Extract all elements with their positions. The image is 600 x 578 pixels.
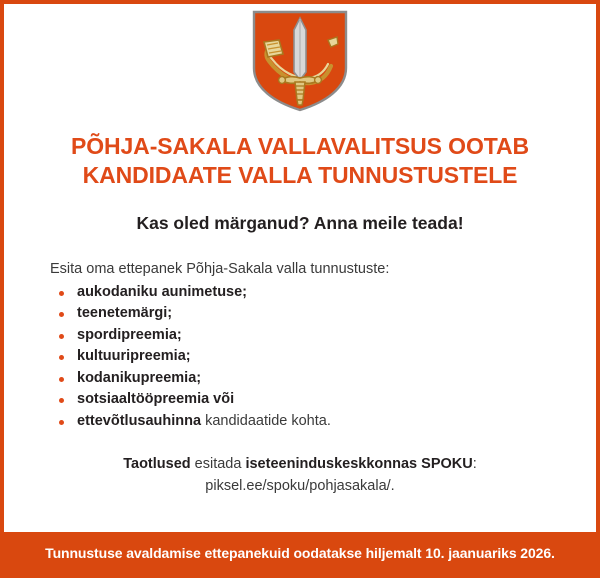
apply-mid-text: esitada [191, 456, 246, 472]
award-label: sotsiaaltööpreemia või [77, 391, 234, 407]
apply-colon: : [473, 456, 477, 472]
award-label: kultuuripreemia; [77, 348, 191, 364]
subtitle: Kas oled märganud? Anna meile teada! [4, 213, 596, 234]
application-instructions: Taotlused esitada iseteeninduskeskkonnas… [4, 453, 596, 498]
award-label: teenetemärgi; [77, 305, 172, 321]
coat-of-arms-shield-sword-horn-icon [252, 10, 348, 112]
award-label: aukodaniku aunimetuse; [77, 284, 247, 300]
list-item: kultuuripreemia; [50, 348, 566, 364]
bullet-dot-icon [59, 334, 64, 339]
apply-strong-taotlused: Taotlused [123, 456, 190, 472]
headline-line-2: KANDIDAATE VALLA TUNNUSTUSTELE [4, 161, 596, 190]
award-tail: kandidaatide kohta. [201, 413, 331, 429]
body-block: Esita oma ettepanek Põhja-Sakala valla t… [4, 261, 596, 429]
page-title: PÕHJA-SAKALA VALLAVALITSUS OOTAB KANDIDA… [4, 132, 596, 191]
intro-text: Esita oma ettepanek Põhja-Sakala valla t… [50, 261, 566, 277]
deadline-banner: Tunnustuse avaldamise ettepanekuid oodat… [4, 532, 596, 574]
list-item: teenetemärgi; [50, 305, 566, 321]
award-label: ettevõtlusauhinna [77, 413, 201, 429]
list-item: kodanikupreemia; [50, 370, 566, 386]
apply-strong-spoku: iseteeninduskeskkonnas SPOKU [245, 456, 472, 472]
spoku-url[interactable]: piksel.ee/spoku/pohjasakala/. [4, 475, 596, 497]
awards-list: aukodaniku aunimetuse; teenetemärgi; spo… [50, 284, 566, 429]
award-label: spordipreemia; [77, 327, 182, 343]
award-label: kodanikupreemia; [77, 370, 201, 386]
list-item: ettevõtlusauhinna kandidaatide kohta. [50, 413, 566, 429]
bullet-dot-icon [59, 355, 64, 360]
crest-container [4, 4, 596, 112]
bullet-dot-icon [59, 312, 64, 317]
bullet-dot-icon [59, 420, 64, 425]
list-item: spordipreemia; [50, 327, 566, 343]
deadline-text: Tunnustuse avaldamise ettepanekuid oodat… [45, 545, 555, 561]
bullet-dot-icon [59, 398, 64, 403]
bullet-dot-icon [59, 377, 64, 382]
list-item: sotsiaaltööpreemia või [50, 391, 566, 407]
poster: PÕHJA-SAKALA VALLAVALITSUS OOTAB KANDIDA… [0, 0, 600, 578]
list-item: aukodaniku aunimetuse; [50, 284, 566, 300]
headline-line-1: PÕHJA-SAKALA VALLAVALITSUS OOTAB [71, 133, 529, 159]
bullet-dot-icon [59, 291, 64, 296]
